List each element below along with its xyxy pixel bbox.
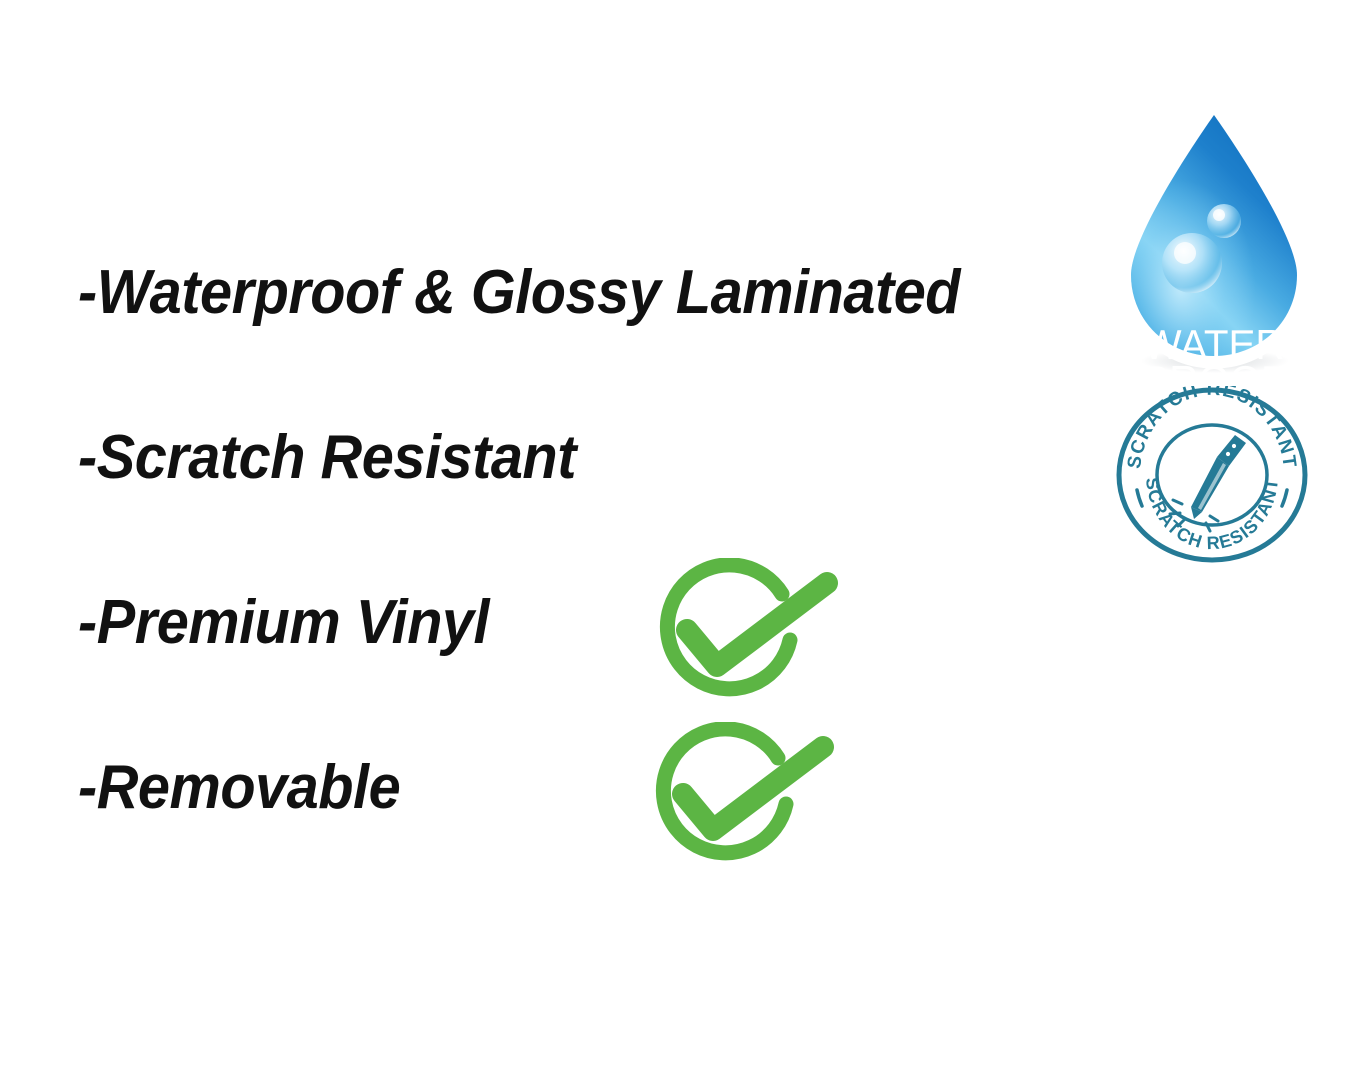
bubble-small-highlight xyxy=(1213,209,1225,221)
circle-check-icon xyxy=(638,722,838,874)
check-tick xyxy=(687,583,827,666)
stamp-dash-right xyxy=(1282,490,1287,506)
stamp-dash-left xyxy=(1137,490,1142,506)
drop-sheen xyxy=(1131,115,1297,356)
check-removable xyxy=(638,722,838,874)
bubble-large-highlight xyxy=(1174,242,1196,264)
feature-item-removable: -Removable xyxy=(78,757,400,819)
feature-item-waterproof-glossy-laminated: -Waterproof & Glossy Laminated xyxy=(78,262,960,324)
bubble-small-icon xyxy=(1207,204,1241,238)
check-tick xyxy=(683,747,823,830)
feature-item-scratch-resistant: -Scratch Resistant xyxy=(78,427,576,489)
circle-check-icon xyxy=(642,558,842,710)
stamp-top-text: SCRATCH RESISTANT xyxy=(1124,386,1300,470)
water-drop-icon xyxy=(1107,103,1321,373)
bubble-large-icon xyxy=(1162,233,1222,293)
waterproof-badge: WATER PROOF xyxy=(1107,103,1321,373)
knife-stamp-icon: SCRATCH RESISTANT SCRATCH RESISTANT xyxy=(1114,386,1310,564)
feature-list-graphic: -Waterproof & Glossy Laminated -Scratch … xyxy=(0,0,1359,1080)
check-premium-vinyl xyxy=(642,558,842,710)
scratch-resistant-badge: SCRATCH RESISTANT SCRATCH RESISTANT xyxy=(1114,386,1310,564)
feature-item-premium-vinyl: -Premium Vinyl xyxy=(78,592,489,654)
